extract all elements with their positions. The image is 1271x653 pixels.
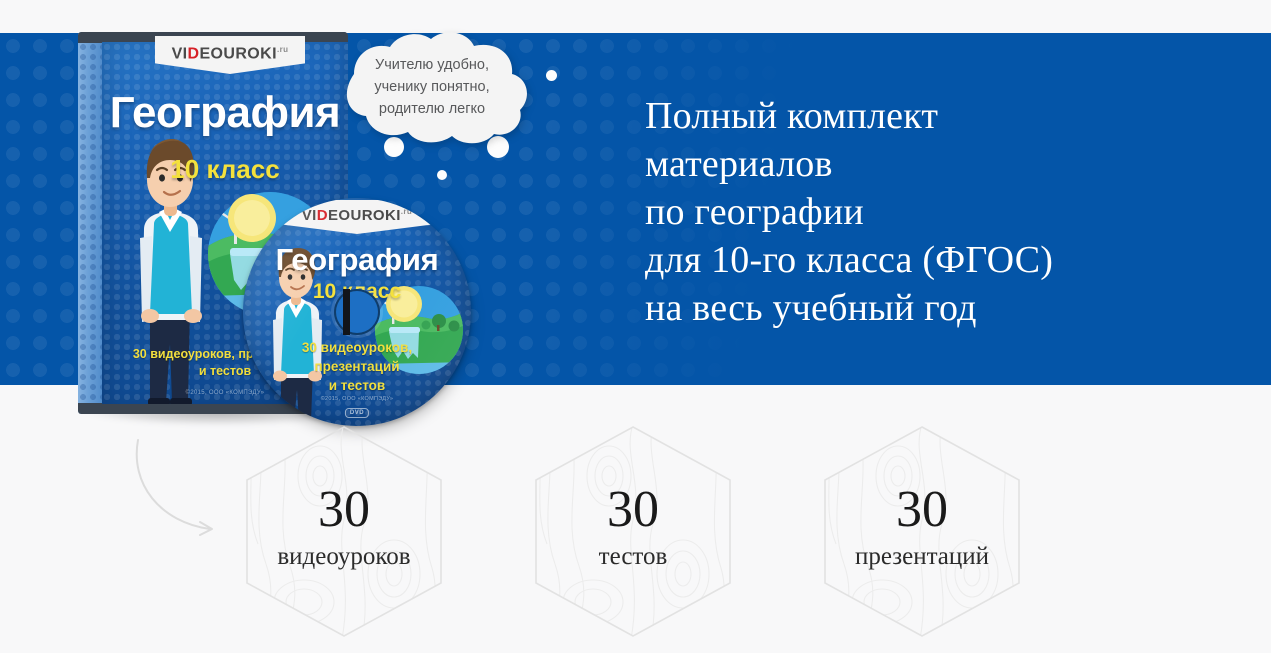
hexagon-number: 30 (822, 482, 1022, 538)
hero-headline: Полный комплект материалов по географии … (645, 92, 1165, 332)
speech-bubble: Учителю удобно, ученику понятно, родител… (318, 28, 546, 148)
spine-dot-pattern (78, 32, 104, 414)
hexagon-number: 30 (244, 482, 444, 538)
box-grade: 10 класс (102, 154, 348, 185)
speech-bubble-text: Учителю удобно, ученику понятно, родител… (318, 54, 546, 120)
hexagon-label: тестов (533, 542, 733, 572)
stats-hexagons: 30 видеоуроков 30 тестов 30 презентаций (0, 424, 1271, 639)
disc-face: VIDEOUROKI.ru География 10 класс 30 виде… (243, 198, 471, 426)
dvd-format-label: DVD (345, 408, 369, 418)
hexagon-label: видеоуроков (244, 542, 444, 572)
hexagon-number: 30 (533, 482, 733, 538)
videouroki-logo: VIDEOUROKI.ru (282, 207, 432, 224)
landing-banner-page: Полный комплект материалов по географии … (0, 0, 1271, 653)
videouroki-logo: VIDEOUROKI.ru (155, 45, 305, 63)
box-title: География (102, 88, 348, 138)
disc-center-hub (334, 289, 380, 335)
hexagon-tests[interactable]: 30 тестов (533, 424, 733, 639)
spine-cap-top (78, 32, 104, 43)
hexagon-label: презентаций (822, 542, 1022, 572)
disc-title: География (243, 242, 471, 278)
disc-subtitle: 30 видеоуроков, презентаций и тестов (243, 338, 471, 395)
hexagon-videolessons[interactable]: 30 видеоуроков (244, 424, 444, 639)
box-spine (78, 32, 104, 414)
decor-bubble-3 (437, 170, 447, 180)
dvd-disc: VIDEOUROKI.ru География 10 класс 30 виде… (243, 198, 471, 426)
hexagon-presentations[interactable]: 30 презентаций (822, 424, 1022, 639)
spine-cap-bottom (78, 403, 104, 414)
decor-bubble-1 (546, 70, 557, 81)
